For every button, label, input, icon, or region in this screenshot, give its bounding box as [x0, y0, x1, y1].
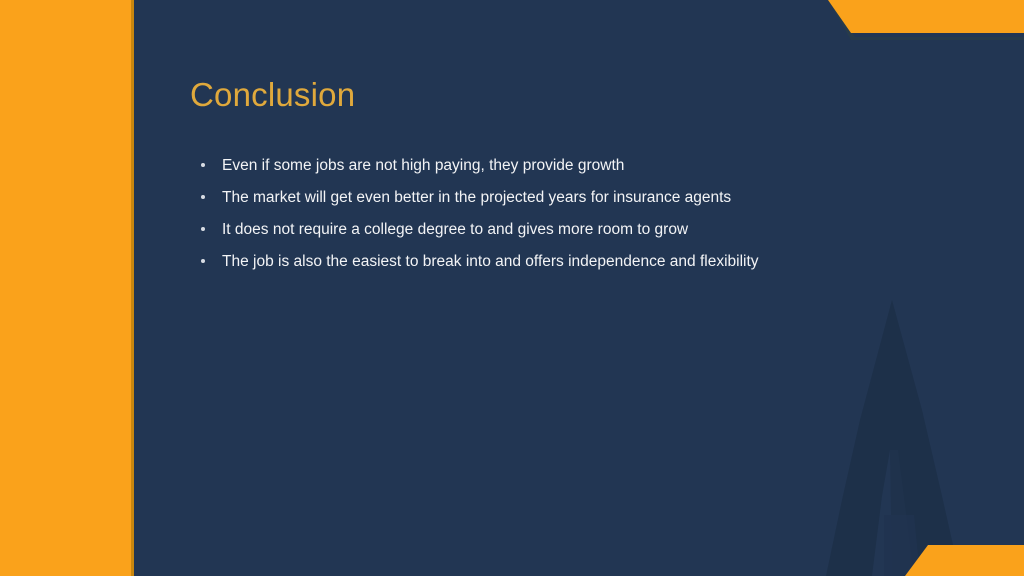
- bullet-point-icon: [201, 163, 205, 167]
- bullet-point-icon: [201, 195, 205, 199]
- left-band-edge-stripe: [131, 0, 134, 576]
- presentation-slide: Conclusion Even if some jobs are not hig…: [0, 0, 1024, 576]
- list-item-text: Even if some jobs are not high paying, t…: [222, 157, 624, 174]
- tower-silhouette-watermark: [764, 300, 1024, 576]
- bullet-point-icon: [201, 259, 205, 263]
- list-item: The market will get even better in the p…: [196, 187, 836, 208]
- slide-title: Conclusion: [190, 76, 355, 114]
- bullet-list: Even if some jobs are not high paying, t…: [196, 155, 836, 272]
- top-right-orange-banner: [820, 0, 1024, 36]
- bullet-point-icon: [201, 227, 205, 231]
- bottom-right-orange-banner: [895, 543, 1024, 576]
- list-item: Even if some jobs are not high paying, t…: [196, 155, 836, 176]
- list-item: The job is also the easiest to break int…: [196, 251, 836, 272]
- list-item: It does not require a college degree to …: [196, 219, 836, 240]
- list-item-text: The job is also the easiest to break int…: [222, 253, 759, 270]
- left-orange-band: [0, 0, 131, 576]
- list-item-text: The market will get even better in the p…: [222, 189, 731, 206]
- list-item-text: It does not require a college degree to …: [222, 221, 688, 238]
